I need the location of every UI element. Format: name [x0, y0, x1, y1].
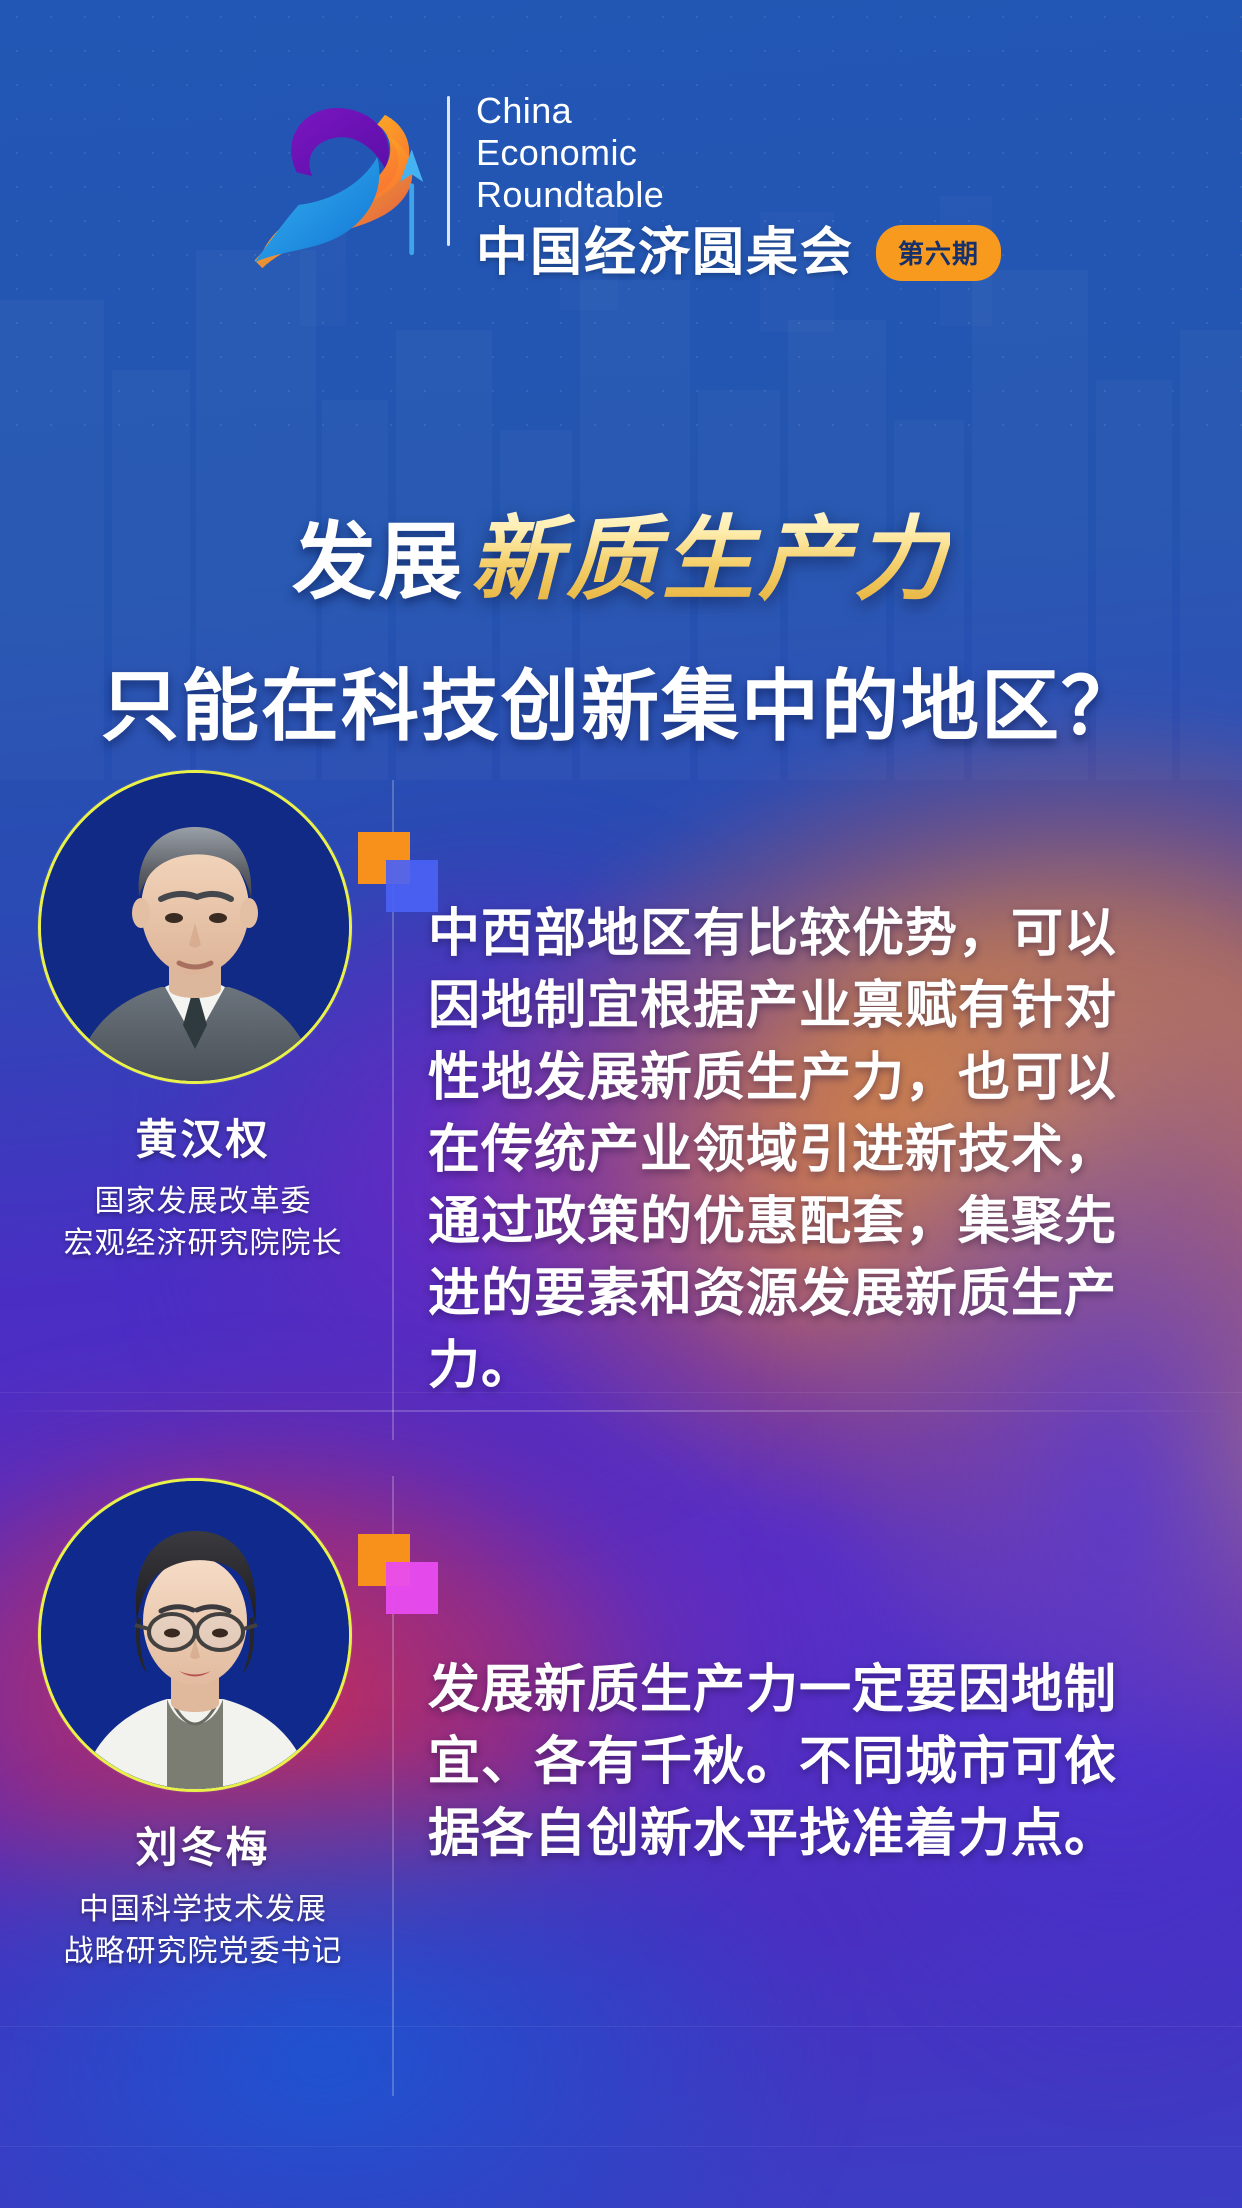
logo-cn-title: 中国经济圆桌会	[476, 224, 854, 282]
title-prefix-text: 发展	[292, 495, 464, 616]
speaker-2-role-line-1: 中国科学技术发展	[38, 1889, 368, 1931]
logo-text-block: China Economic Roundtable 中国经济圆桌会 第六期	[476, 90, 1001, 282]
logo-lockup: China Economic Roundtable 中国经济圆桌会 第六期	[241, 90, 1001, 282]
speaker-1-avatar	[38, 770, 352, 1084]
issue-number-badge: 第六期	[876, 225, 1001, 281]
speaker-2-name: 刘冬梅	[38, 1814, 368, 1875]
speaker-2-role: 中国科学技术发展 战略研究院党委书记	[38, 1889, 368, 1973]
title-line-1: 发展 新质生产力	[0, 485, 1242, 618]
speaker-1-profile: 黄汉权 国家发展改革委 宏观经济研究院院长	[38, 770, 368, 1265]
speaker-1-quote: 中西部地区有比较优势，可以因地制宜根据产业禀赋有针对性地发展新质生产力，也可以在…	[428, 898, 1164, 1402]
title-line-2: 只能在科技创新集中的地区？	[0, 644, 1242, 756]
speaker-1-role: 国家发展改革委 宏观经济研究院院长	[38, 1181, 368, 1265]
speaker-2-quote: 发展新质生产力一定要因地制宜、各有千秋。不同城市可依据各自创新水平找准着力点。	[428, 1654, 1164, 1870]
speaker-2-profile: 刘冬梅 中国科学技术发展 战略研究院党委书记	[38, 1478, 368, 1973]
brand-header: China Economic Roundtable 中国经济圆桌会 第六期	[0, 90, 1242, 282]
logo-cn-row: 中国经济圆桌会 第六期	[476, 224, 1001, 282]
poster-canvas: China Economic Roundtable 中国经济圆桌会 第六期 发展…	[0, 0, 1242, 2208]
speaker-1-role-line-1: 国家发展改革委	[38, 1181, 368, 1223]
logo-en-line-3: Roundtable	[476, 174, 1001, 216]
portrait-photo-male-icon	[41, 773, 349, 1081]
speaker-1-role-line-2: 宏观经济研究院院长	[38, 1223, 368, 1265]
speaker-1-name: 黄汉权	[38, 1106, 368, 1167]
background-band-3	[0, 2146, 1242, 2147]
background-band-2	[0, 2026, 1242, 2027]
speaker-2-avatar	[38, 1478, 352, 1792]
poster-title: 发展 新质生产力 只能在科技创新集中的地区？	[0, 485, 1242, 756]
swoosh-e-logo-icon	[241, 90, 433, 270]
title-highlight-text: 新质生产力	[470, 485, 950, 618]
logo-divider	[447, 96, 450, 246]
logo-en-line-2: Economic	[476, 132, 1001, 174]
decor-magenta-square-2	[386, 1562, 438, 1614]
section-divider-1	[0, 1410, 1242, 1412]
speaker-2-role-line-2: 战略研究院党委书记	[38, 1931, 368, 1973]
logo-en-line-1: China	[476, 90, 1001, 132]
portrait-photo-female-icon	[41, 1481, 349, 1789]
